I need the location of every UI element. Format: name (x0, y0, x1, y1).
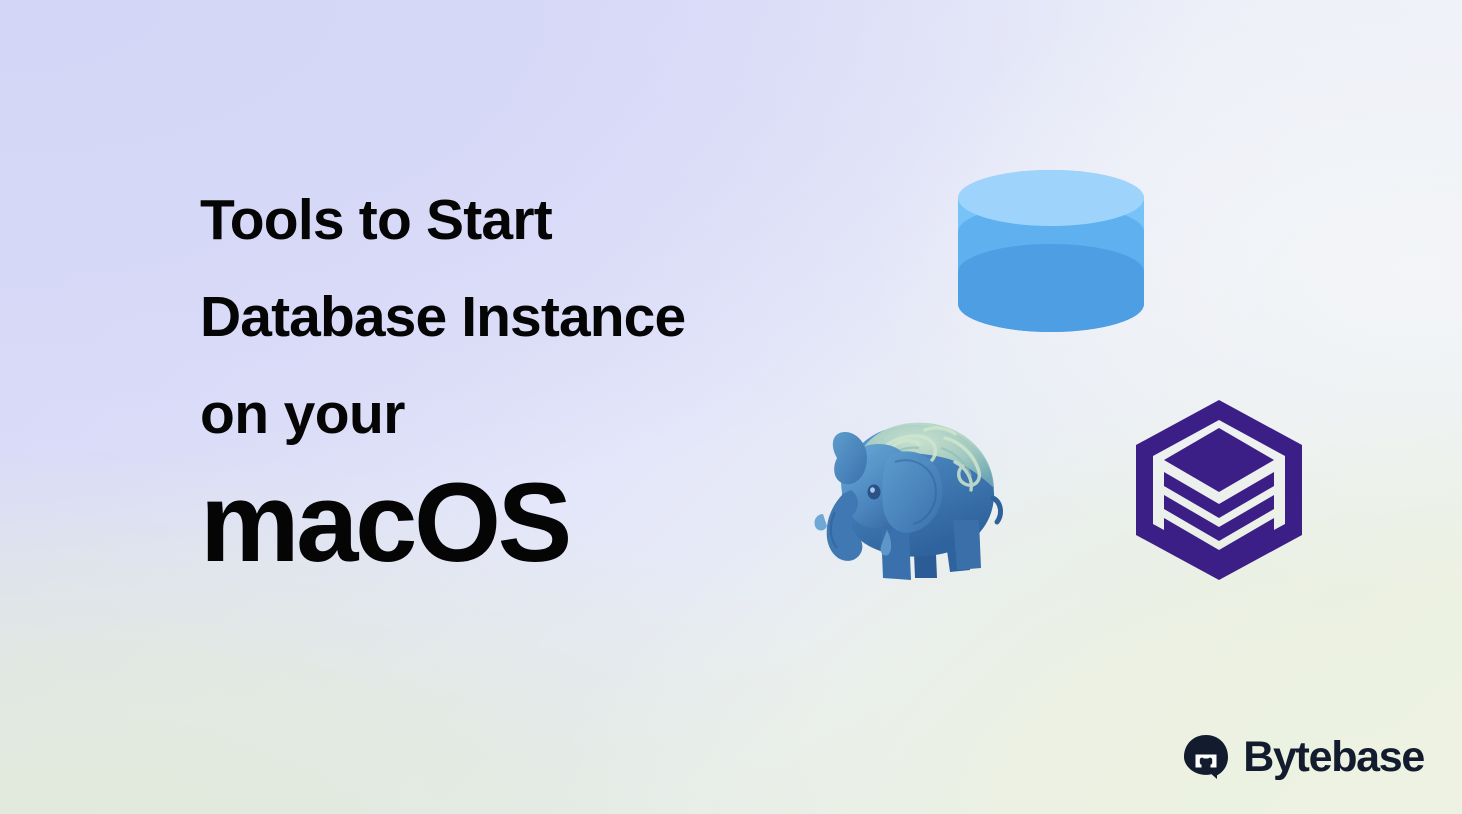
database-cylinder-icon (958, 170, 1144, 332)
headline-line-4-macos: macOS (200, 467, 900, 579)
headline-line-3: on your (200, 366, 900, 463)
bytebase-hexagon-cube-logo (1132, 398, 1306, 582)
headline-line-1: Tools to Start (200, 172, 900, 269)
bytebase-speech-bubble-icon (1183, 734, 1229, 780)
bytebase-wordmark: Bytebase (1243, 736, 1424, 779)
headline-block: Tools to Start Database Instance on your… (200, 172, 900, 579)
bytebase-brand-lockup: Bytebase (1183, 734, 1424, 780)
promo-banner: Tools to Start Database Instance on your… (0, 0, 1462, 814)
headline-line-2: Database Instance (200, 269, 900, 366)
